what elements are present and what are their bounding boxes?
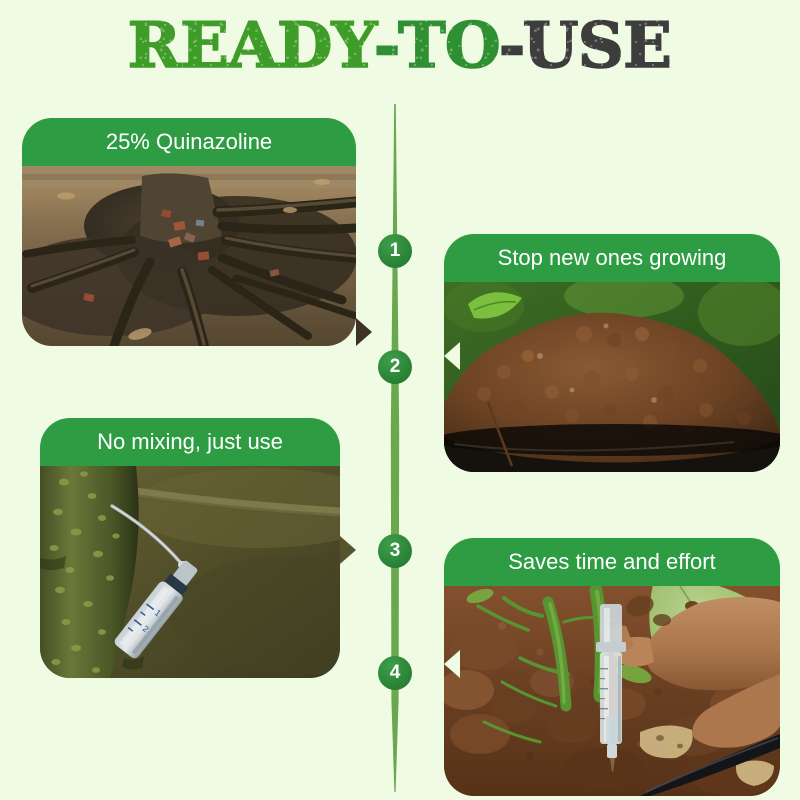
card-stop-growing-label: Stop new ones growing [498, 245, 727, 271]
title-word-ready: READY [128, 14, 377, 77]
timeline-step-4-number: 4 [390, 662, 401, 684]
card-stop-growing-pointer [444, 342, 460, 370]
card-no-mixing-header: No mixing, just use [40, 418, 340, 466]
timeline-step-1[interactable]: 1 [378, 234, 412, 268]
tree-roots-photo [22, 166, 356, 346]
card-stop-growing[interactable]: Stop new ones growing [444, 234, 780, 472]
title-dash-1: - [374, 14, 400, 77]
card-quinazoline-label: 25% Quinazoline [106, 129, 272, 155]
timeline-step-4[interactable]: 4 [378, 656, 412, 690]
timeline-step-2-number: 2 [390, 356, 401, 378]
card-quinazoline[interactable]: 25% Quinazoline [22, 118, 356, 346]
card-no-mixing[interactable]: No mixing, just use [40, 418, 340, 678]
card-saves-time[interactable]: Saves time and effort [444, 538, 780, 796]
card-quinazoline-header: 25% Quinazoline [22, 118, 356, 166]
timeline-step-2[interactable]: 2 [378, 350, 412, 384]
card-no-mixing-label: No mixing, just use [97, 429, 283, 455]
card-stop-growing-header: Stop new ones growing [444, 234, 780, 282]
page-title: READY-TO-USE [0, 14, 800, 77]
card-saves-time-label: Saves time and effort [508, 549, 716, 575]
card-quinazoline-pointer [356, 318, 372, 346]
card-saves-time-header: Saves time and effort [444, 538, 780, 586]
card-no-mixing-pointer [340, 536, 356, 564]
soil-compost-photo [444, 282, 780, 472]
title-word-use: USE [523, 14, 671, 77]
timeline-step-1-number: 1 [390, 240, 401, 262]
soil-injection-photo [444, 586, 780, 796]
title-word-to: TO [398, 14, 500, 77]
timeline-step-3-number: 3 [390, 540, 401, 562]
tree-injection-photo: 1 2 [40, 466, 340, 678]
card-saves-time-pointer [444, 650, 460, 678]
title-dash-2: - [499, 14, 525, 77]
timeline-step-3[interactable]: 3 [378, 534, 412, 568]
